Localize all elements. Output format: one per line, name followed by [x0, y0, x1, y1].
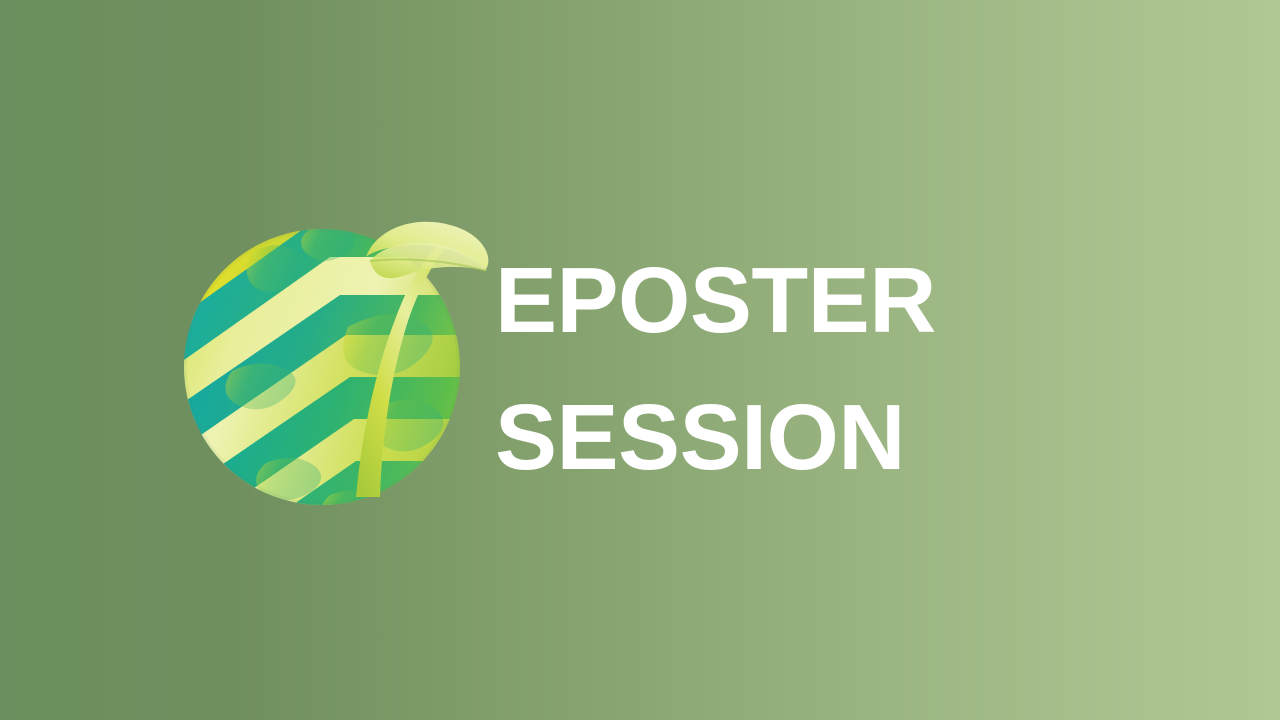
globe-swan-logo: [170, 195, 490, 520]
title-block: EPOSTER SESSION: [495, 232, 1195, 506]
slide-canvas: EPOSTER SESSION: [0, 0, 1280, 720]
page-title-line-2: SESSION: [495, 369, 1195, 506]
page-title-line-1: EPOSTER: [495, 232, 1195, 369]
